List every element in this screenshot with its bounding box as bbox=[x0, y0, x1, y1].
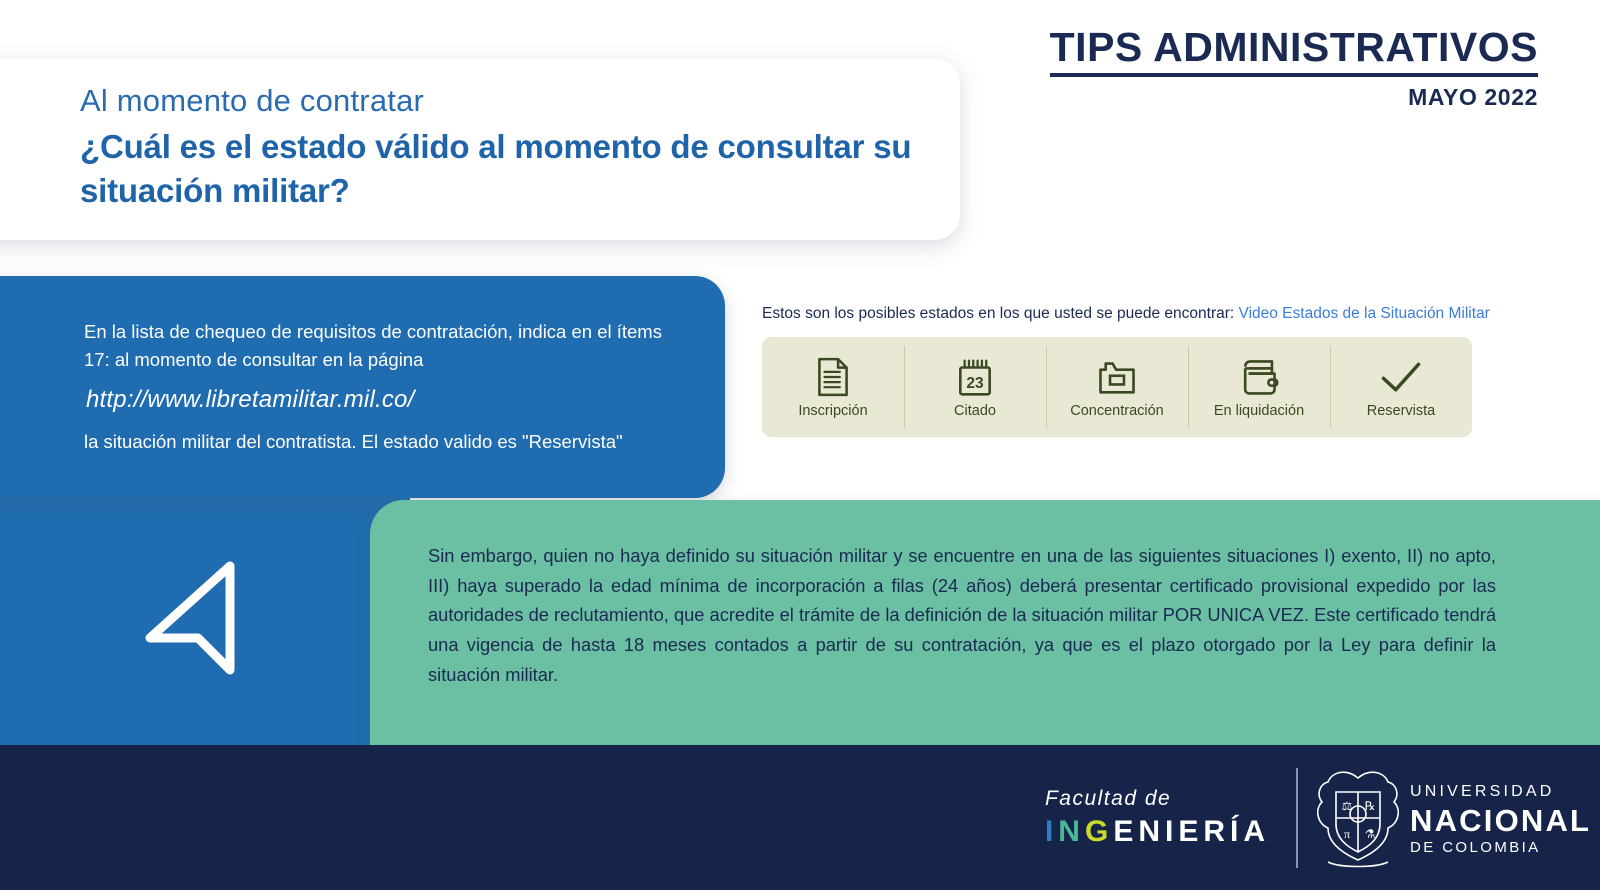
blue-panel-text: En la lista de chequeo de requisitos de … bbox=[84, 318, 684, 456]
university-line-2: NACIONAL bbox=[1410, 803, 1560, 839]
state-item-inscripcion[interactable]: Inscripción bbox=[762, 337, 904, 437]
green-panel-body: Sin embargo, quien no haya definido su s… bbox=[428, 541, 1496, 689]
cursor-arrow-icon bbox=[132, 552, 252, 680]
blue-paragraph-1: En la lista de chequeo de requisitos de … bbox=[84, 318, 684, 374]
university-line-1: UNIVERSIDAD bbox=[1410, 782, 1560, 803]
state-label: Citado bbox=[954, 403, 996, 419]
state-item-reservista[interactable]: Reservista bbox=[1330, 337, 1472, 437]
svg-text:π: π bbox=[1344, 827, 1350, 841]
state-item-en-liquidacion[interactable]: En liquidación bbox=[1188, 337, 1330, 437]
states-caption: Estos son los posibles estados en los qu… bbox=[762, 305, 1490, 323]
document-icon bbox=[816, 355, 850, 399]
svg-text:⚖: ⚖ bbox=[1342, 799, 1353, 813]
svg-text:℞: ℞ bbox=[1365, 799, 1376, 813]
title-kicker: Al momento de contratar bbox=[80, 82, 980, 121]
title-card-content: Al momento de contratar ¿Cuál es el esta… bbox=[80, 82, 980, 213]
university-line-3: DE COLOMBIA bbox=[1410, 838, 1560, 858]
faculty-logo: Facultad de INGENIERÍA bbox=[1045, 786, 1270, 851]
university-name: UNIVERSIDAD NACIONAL DE COLOMBIA bbox=[1410, 782, 1560, 858]
state-label: Reservista bbox=[1367, 403, 1436, 419]
faculty-word: Facultad de bbox=[1045, 786, 1270, 811]
faculty-name: INGENIERÍA bbox=[1045, 813, 1270, 851]
blue-paragraph-2: la situación militar del contratista. El… bbox=[84, 428, 684, 456]
state-item-citado[interactable]: 23 Citado bbox=[904, 337, 1046, 437]
header-subtitle: MAYO 2022 bbox=[1050, 84, 1538, 111]
header-brand: TIPS ADMINISTRATIVOS MAYO 2022 bbox=[1050, 26, 1538, 111]
state-item-concentracion[interactable]: Concentración bbox=[1046, 337, 1188, 437]
video-link[interactable]: Video Estados de la Situación Militar bbox=[1239, 305, 1490, 322]
libreta-militar-url[interactable]: http://www.libretamilitar.mil.co/ bbox=[86, 386, 684, 414]
svg-text:⚗: ⚗ bbox=[1365, 827, 1376, 841]
poster-canvas: TIPS ADMINISTRATIVOS MAYO 2022 Al moment… bbox=[0, 0, 1600, 890]
title-card: Al momento de contratar ¿Cuál es el esta… bbox=[0, 58, 960, 240]
header-title: TIPS ADMINISTRATIVOS bbox=[1050, 26, 1538, 77]
state-label: En liquidación bbox=[1214, 403, 1304, 419]
check-icon bbox=[1379, 355, 1423, 399]
page-title: ¿Cuál es el estado válido al momento de … bbox=[80, 125, 980, 213]
university-shield-icon: ⚖ ℞ π ⚗ bbox=[1306, 762, 1410, 874]
states-caption-text: Estos son los posibles estados en los qu… bbox=[762, 305, 1234, 322]
states-box: Inscripción 23 Citado bbox=[762, 337, 1472, 437]
state-label: Concentración bbox=[1070, 403, 1164, 419]
state-label: Inscripción bbox=[798, 403, 867, 419]
calendar-day: 23 bbox=[966, 375, 984, 392]
wallet-icon bbox=[1239, 355, 1279, 399]
footer-divider bbox=[1296, 768, 1298, 868]
calendar-icon: 23 bbox=[956, 355, 994, 399]
folder-icon bbox=[1097, 355, 1137, 399]
